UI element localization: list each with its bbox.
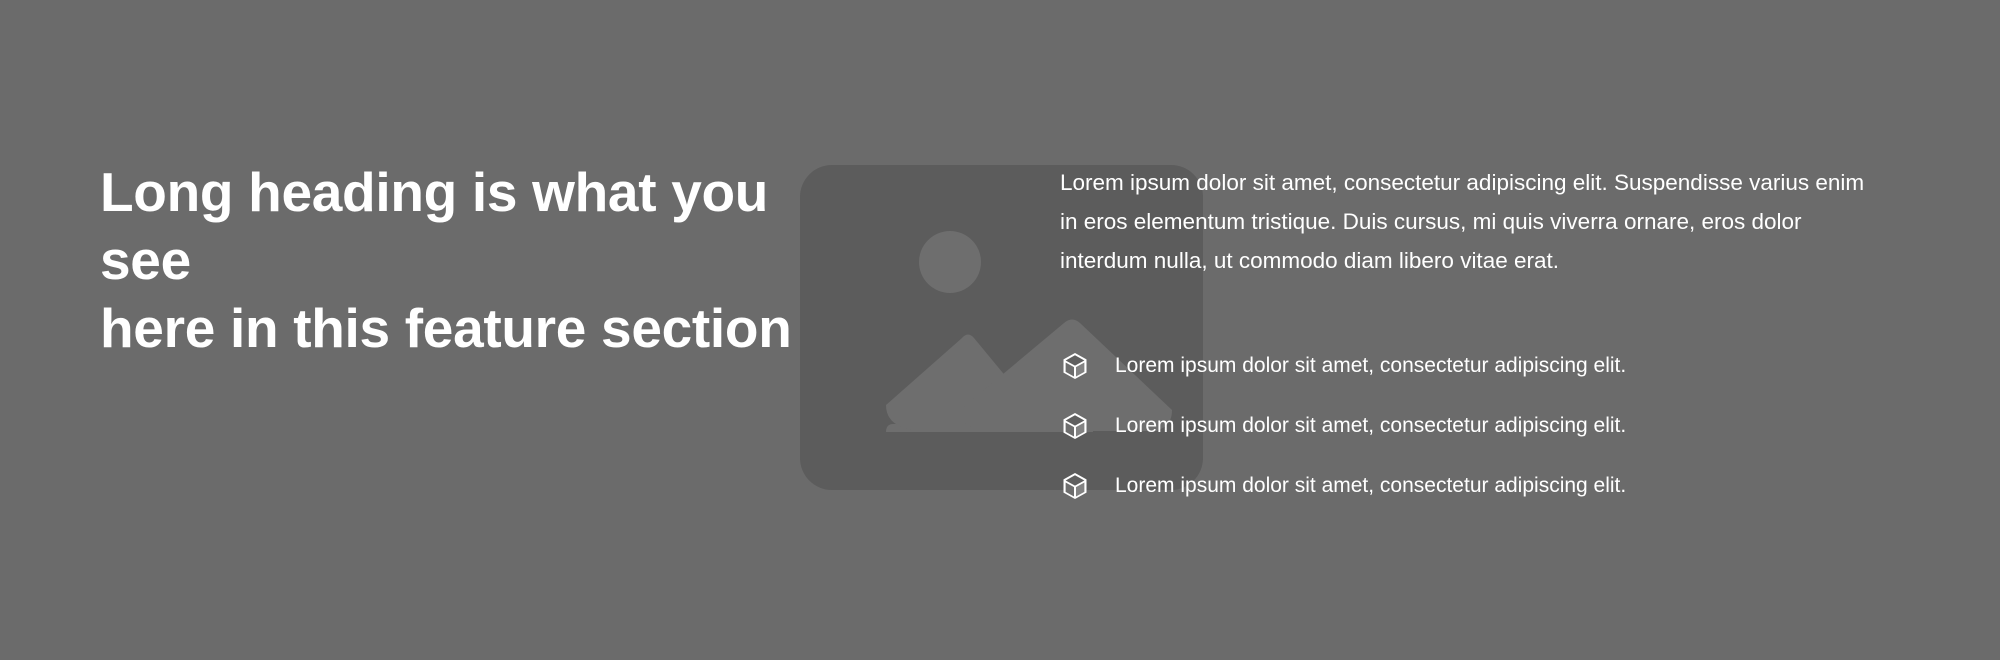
list-item-label: Lorem ipsum dolor sit amet, consectetur … bbox=[1115, 351, 1626, 381]
feature-list: Lorem ipsum dolor sit amet, consectetur … bbox=[1060, 336, 1878, 516]
list-item-label: Lorem ipsum dolor sit amet, consectetur … bbox=[1115, 411, 1626, 441]
list-item: Lorem ipsum dolor sit amet, consectetur … bbox=[1060, 336, 1878, 396]
list-item: Lorem ipsum dolor sit amet, consectetur … bbox=[1060, 396, 1878, 456]
section-paragraph: Lorem ipsum dolor sit amet, consectetur … bbox=[1060, 163, 1878, 280]
cube-icon bbox=[1060, 471, 1090, 501]
content-column: Lorem ipsum dolor sit amet, consectetur … bbox=[1060, 163, 1878, 280]
cube-icon bbox=[1060, 351, 1090, 381]
list-item: Lorem ipsum dolor sit amet, consectetur … bbox=[1060, 456, 1878, 516]
cube-icon bbox=[1060, 411, 1090, 441]
section-heading: Long heading is what you see here in thi… bbox=[100, 158, 820, 362]
feature-section: Long heading is what you see here in thi… bbox=[0, 0, 2000, 660]
list-item-label: Lorem ipsum dolor sit amet, consectetur … bbox=[1115, 471, 1626, 501]
